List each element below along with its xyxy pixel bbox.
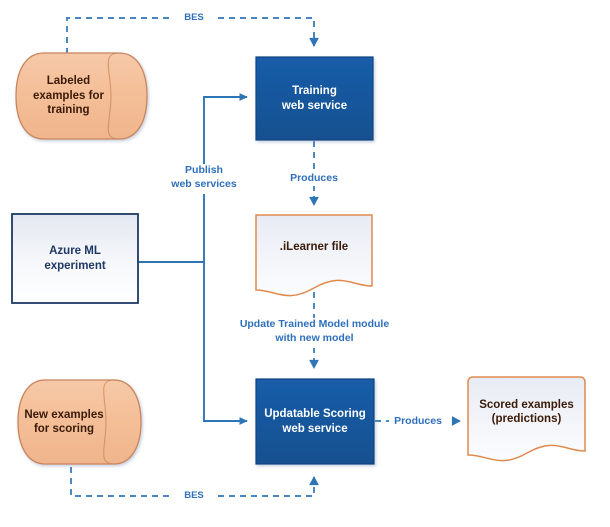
edge-publish-training xyxy=(137,97,247,262)
node-azure-experiment[interactable] xyxy=(12,214,138,303)
node-ilearner-file[interactable] xyxy=(256,215,372,296)
diagram-canvas: Labeled examples for training Training w… xyxy=(0,0,610,527)
node-scoring-service[interactable] xyxy=(256,379,374,464)
diagram-shapes-layer xyxy=(0,0,610,527)
node-labeled-examples[interactable] xyxy=(16,53,147,139)
edge-bes-top xyxy=(67,18,314,54)
node-new-examples[interactable] xyxy=(18,380,141,464)
edge-publish-scoring xyxy=(204,262,247,421)
node-training-service[interactable] xyxy=(256,57,373,140)
node-scored-examples[interactable] xyxy=(468,377,585,461)
edge-bes-bottom xyxy=(71,467,314,496)
